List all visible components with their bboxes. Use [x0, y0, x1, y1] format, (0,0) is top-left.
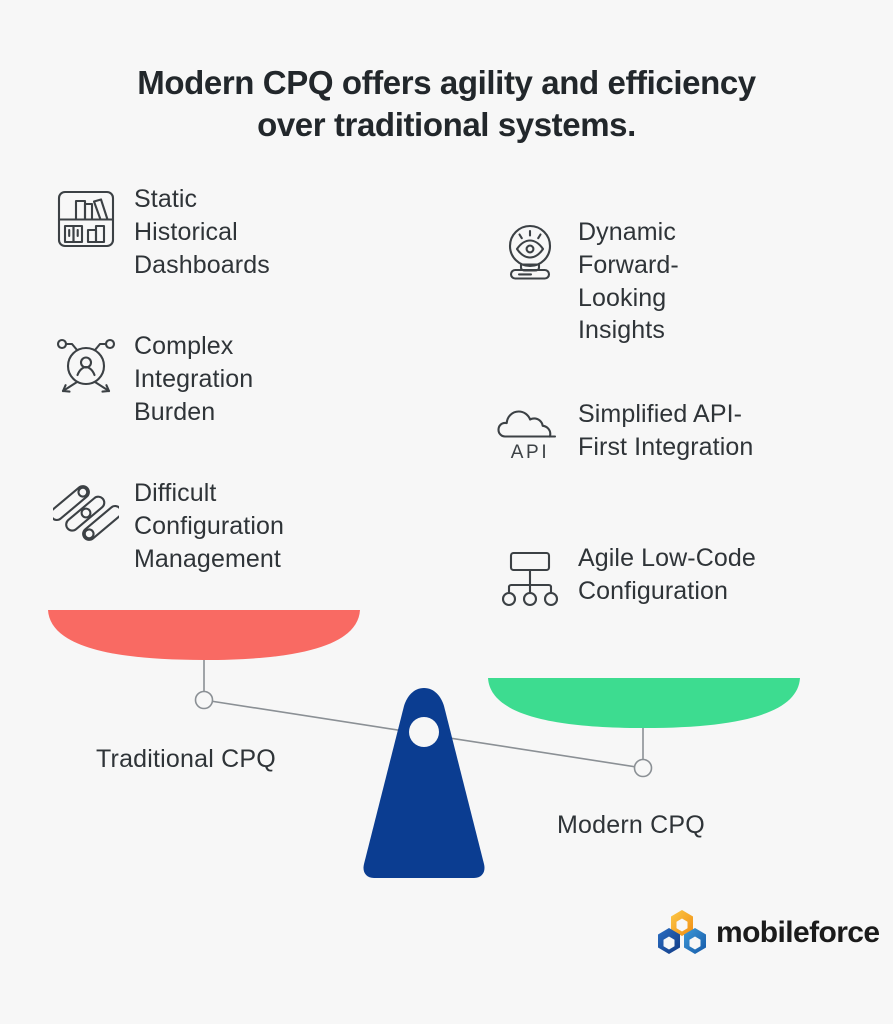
page-title-line-1: Modern CPQ offers agility and efficiency — [137, 64, 755, 101]
cloud-api-icon: API — [494, 398, 566, 470]
feature-dynamic-forward-looking-insights: Dynamic Forward-Looking Insights — [494, 216, 839, 347]
feature-label: Static Historical Dashboards — [122, 183, 302, 281]
user-network-icon — [50, 330, 122, 402]
feature-static-historical-dashboards: Static Historical Dashboards — [50, 183, 380, 281]
balance-scale-graphic — [0, 570, 893, 900]
feature-label: Difficult Configuration Management — [122, 477, 332, 575]
sliders-diagonal-icon — [50, 477, 122, 549]
crystal-ball-eye-icon — [494, 216, 566, 288]
fulcrum-pivot-hole — [409, 717, 439, 747]
mobileforce-logo: mobileforce — [656, 908, 879, 958]
page-title-line-2: over traditional systems. — [60, 104, 833, 146]
traditional-cpq-pan — [48, 610, 360, 660]
hexagon-trio-logo-icon — [656, 908, 708, 958]
api-icon-text: API — [511, 442, 549, 463]
bookshelf-icon — [50, 183, 122, 255]
feature-difficult-configuration-management: Difficult Configuration Management — [50, 477, 395, 575]
feature-complex-integration-burden: Complex Integration Burden — [50, 330, 380, 428]
mobileforce-wordmark: mobileforce — [716, 916, 879, 950]
infographic-canvas: Modern CPQ offers agility and efficiency… — [0, 0, 893, 1024]
feature-label: Dynamic Forward-Looking Insights — [566, 216, 711, 347]
modern-cpq-pan — [488, 678, 800, 728]
page-title: Modern CPQ offers agility and efficiency… — [60, 62, 833, 146]
feature-simplified-api-first-integration: API Simplified API-First Integration — [494, 398, 839, 470]
feature-label: Simplified API-First Integration — [566, 398, 781, 464]
modern-cpq-pan-label: Modern CPQ — [557, 811, 705, 840]
right-pan-joint — [635, 760, 652, 777]
traditional-cpq-pan-label: Traditional CPQ — [96, 745, 276, 774]
left-pan-joint — [196, 692, 213, 709]
scale-fulcrum — [363, 688, 484, 878]
feature-label: Complex Integration Burden — [122, 330, 302, 428]
